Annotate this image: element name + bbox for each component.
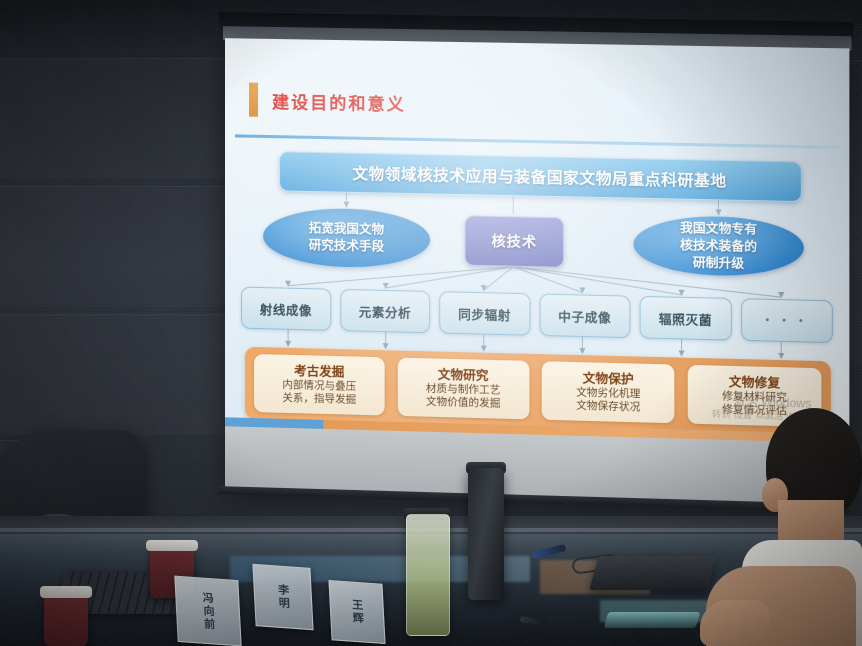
technology-pill-2: 元素分析 <box>340 289 430 333</box>
application-title: 考古发掘 <box>294 364 344 380</box>
technology-pill-4: 中子成像 <box>539 294 630 339</box>
wall-panel <box>0 314 226 435</box>
wall-panel <box>0 58 230 179</box>
technology-label: 同步辐射 <box>458 303 511 323</box>
person-hand <box>700 600 770 646</box>
goal-left-line1: 拓宽我国文物 <box>309 220 385 239</box>
technology-pill-more: • • • <box>741 298 833 343</box>
projection-screen: 建设目的和意义 <box>215 12 854 510</box>
application-line-2: 关系，指导发掘 <box>282 391 356 406</box>
presentation-slide: 建设目的和意义 <box>225 38 849 443</box>
paper-coffee-cup <box>44 592 88 646</box>
tablet-reflection <box>604 612 701 628</box>
application-title: 文物修复 <box>729 375 780 392</box>
goal-oval-right: 我国文物专有 核技术装备的 研制升级 <box>633 215 803 278</box>
glass-tea-jar <box>406 514 450 636</box>
core-technology-box: 核技术 <box>465 215 565 268</box>
slide-section-title: 建设目的和意义 <box>272 88 406 116</box>
black-thermos <box>468 468 504 600</box>
diagram-header-box: 文物领域核技术应用与装备国家文物局重点科研基地 <box>279 151 802 202</box>
core-technology-label: 核技术 <box>491 231 537 252</box>
goal-right-line2: 核技术装备的 <box>680 237 757 256</box>
technology-pill-5: 辐照灭菌 <box>640 296 732 341</box>
goal-left-line2: 研究技术手段 <box>309 237 385 256</box>
technology-label: 射线成像 <box>260 299 312 319</box>
application-title: 文物保护 <box>583 371 634 387</box>
technology-pill-1: 射线成像 <box>241 287 331 331</box>
wall-panel <box>0 186 228 307</box>
application-line-2: 文物价值的发掘 <box>426 395 500 410</box>
goal-right-line3: 研制升级 <box>693 254 744 272</box>
cup-lid <box>146 540 198 551</box>
slide-title-group: 建设目的和意义 <box>249 83 406 120</box>
cup-lid <box>40 586 92 598</box>
application-card-2: 文物研究 材质与制作工艺 文物价值的发掘 <box>397 358 529 420</box>
application-line-2: 文物保存状况 <box>576 399 640 414</box>
title-divider-rule <box>235 134 839 149</box>
technology-row: 射线成像 元素分析 同步辐射 中子成像 辐照灭菌 • • • <box>241 287 833 343</box>
goal-oval-left: 拓宽我国文物 研究技术手段 <box>263 207 430 269</box>
conference-room-photo: 建设目的和意义 <box>0 0 862 646</box>
goal-right-line1: 我国文物专有 <box>680 219 757 238</box>
ellipsis-label: • • • <box>766 315 808 327</box>
nameplate: 王辉 <box>328 580 385 644</box>
technology-label: 中子成像 <box>558 306 611 326</box>
tablet <box>589 556 717 590</box>
technology-label: 辐照灭菌 <box>659 308 712 329</box>
nameplate-text: 李明 <box>274 583 291 610</box>
diagram-header-label: 文物领域核技术应用与装备国家文物局重点科研基地 <box>352 162 726 192</box>
nameplate: 李明 <box>252 564 313 630</box>
application-card-3: 文物保护 文物劣化机理 文物保存状况 <box>542 361 675 423</box>
technology-pill-3: 同步辐射 <box>439 291 530 335</box>
technology-label: 元素分析 <box>359 301 411 321</box>
nameplate-text: 冯向前 <box>199 591 217 631</box>
title-accent-bar <box>249 83 258 117</box>
nameplate-text: 王辉 <box>348 598 365 625</box>
application-title: 文物研究 <box>438 367 489 383</box>
application-card-1: 考古发掘 内部情况与叠压 关系，指导发掘 <box>254 354 385 416</box>
nameplate: 冯向前 <box>174 576 241 646</box>
